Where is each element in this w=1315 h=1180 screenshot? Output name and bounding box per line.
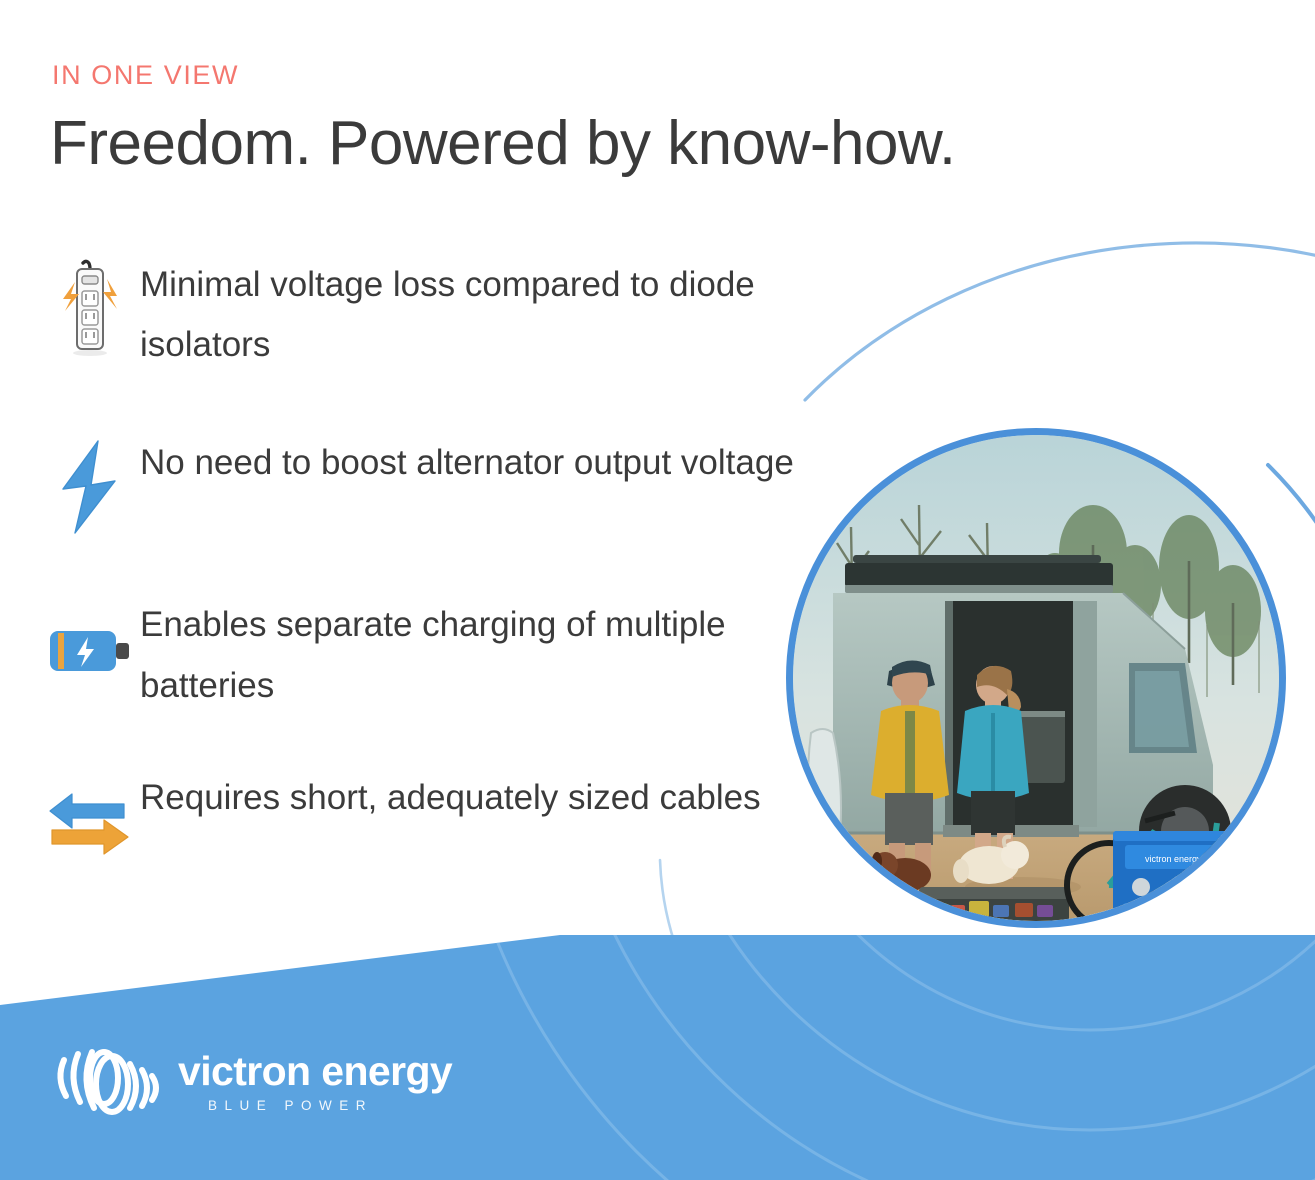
product-model-text: ARGOFET Battery Isolator — [1161, 907, 1262, 917]
list-item-label: Requires short, adequately sized cables — [140, 768, 761, 828]
eyebrow-label: IN ONE VIEW — [52, 60, 239, 91]
hero-photo-inner: HYPERLITE — [793, 435, 1279, 921]
list-item: No need to boost alternator output volta… — [40, 433, 840, 537]
poster-canvas: IN ONE VIEW Freedom. Powered by know-how… — [0, 0, 1315, 1180]
lightning-bolt-icon — [40, 433, 140, 537]
hero-photo: HYPERLITE — [786, 428, 1286, 928]
two-way-arrows-icon — [40, 768, 140, 860]
power-strip-icon — [40, 255, 140, 361]
benefits-list: Minimal voltage loss compared to diode i… — [40, 255, 840, 872]
product-brand-text: victron energy — [1145, 854, 1202, 864]
list-item-label: Enables separate charging of multiple ba… — [140, 595, 840, 715]
list-item-label: Minimal voltage loss compared to diode i… — [140, 255, 840, 375]
list-item-label: No need to boost alternator output volta… — [140, 433, 794, 493]
list-item: Requires short, adequately sized cables — [40, 768, 840, 872]
list-item: Minimal voltage loss compared to diode i… — [40, 255, 840, 375]
victron-logo: victron energy BLUE POWER — [52, 1044, 452, 1120]
battery-charging-icon — [40, 595, 140, 681]
argofet-isolator-product: victron energy ARGOFET Battery Isolator — [1113, 831, 1279, 921]
list-item: Enables separate charging of multiple ba… — [40, 595, 840, 715]
victron-logo-mark — [52, 1044, 162, 1120]
logo-wordmark: victron energy — [178, 1051, 452, 1092]
camper-van-scene: HYPERLITE — [793, 435, 1279, 921]
logo-tagline: BLUE POWER — [208, 1099, 452, 1113]
victron-logo-text: victron energy BLUE POWER — [178, 1051, 452, 1113]
page-title: Freedom. Powered by know-how. — [50, 108, 956, 179]
